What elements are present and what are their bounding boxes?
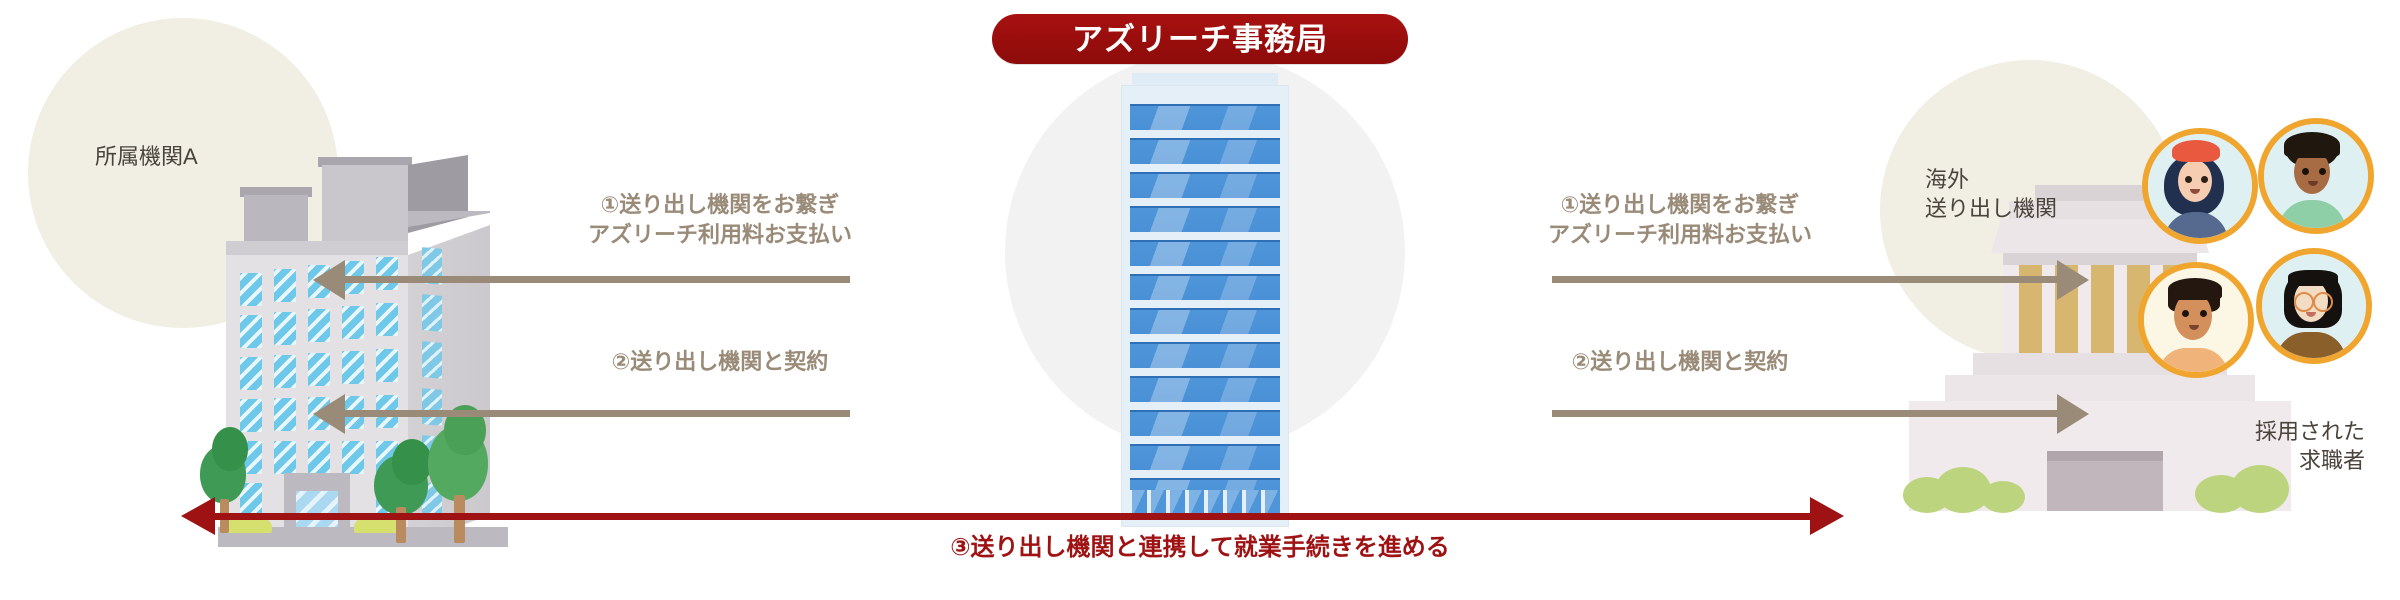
node-label-hired-jobseekers: 採用された 求職者	[2185, 417, 2365, 475]
office-building-icon	[196, 155, 536, 555]
diagram-canvas: アズリーチ事務局 所属機関A 海外 送り出し機関 採用された 求職者 ①送り出し…	[0, 0, 2400, 600]
flow-label-right-top: ①送り出し機関をお繋ぎ アズリーチ利用料お支払い	[1460, 190, 1900, 250]
temple-building-icon	[1895, 185, 2295, 565]
bush-icon	[1981, 481, 2025, 513]
avatar	[2142, 128, 2258, 244]
flow-label-left-top: ①送り出し機関をお繋ぎ アズリーチ利用料お支払い	[500, 190, 940, 250]
flow-label-left-bottom: ②送り出し機関と契約	[500, 347, 940, 377]
avatar	[2258, 118, 2374, 234]
skyscraper-icon	[1122, 86, 1288, 526]
banner-label: アズリーチ事務局	[1072, 24, 1328, 55]
skyscraper-cap	[1132, 73, 1278, 87]
azreach-office-banner: アズリーチ事務局	[992, 14, 1408, 64]
node-label-right-organization: 海外 送り出し機関	[1925, 165, 2057, 223]
skyscraper-lobby	[1122, 490, 1288, 526]
flow-label-bottom: ③送り出し機関と連携して就業手続きを進める	[720, 527, 1680, 562]
avatar	[2138, 262, 2254, 378]
flow-label-right-bottom: ②送り出し機関と契約	[1460, 347, 1900, 377]
avatar	[2256, 248, 2372, 364]
node-label-left-organization: 所属機関A	[95, 142, 198, 171]
